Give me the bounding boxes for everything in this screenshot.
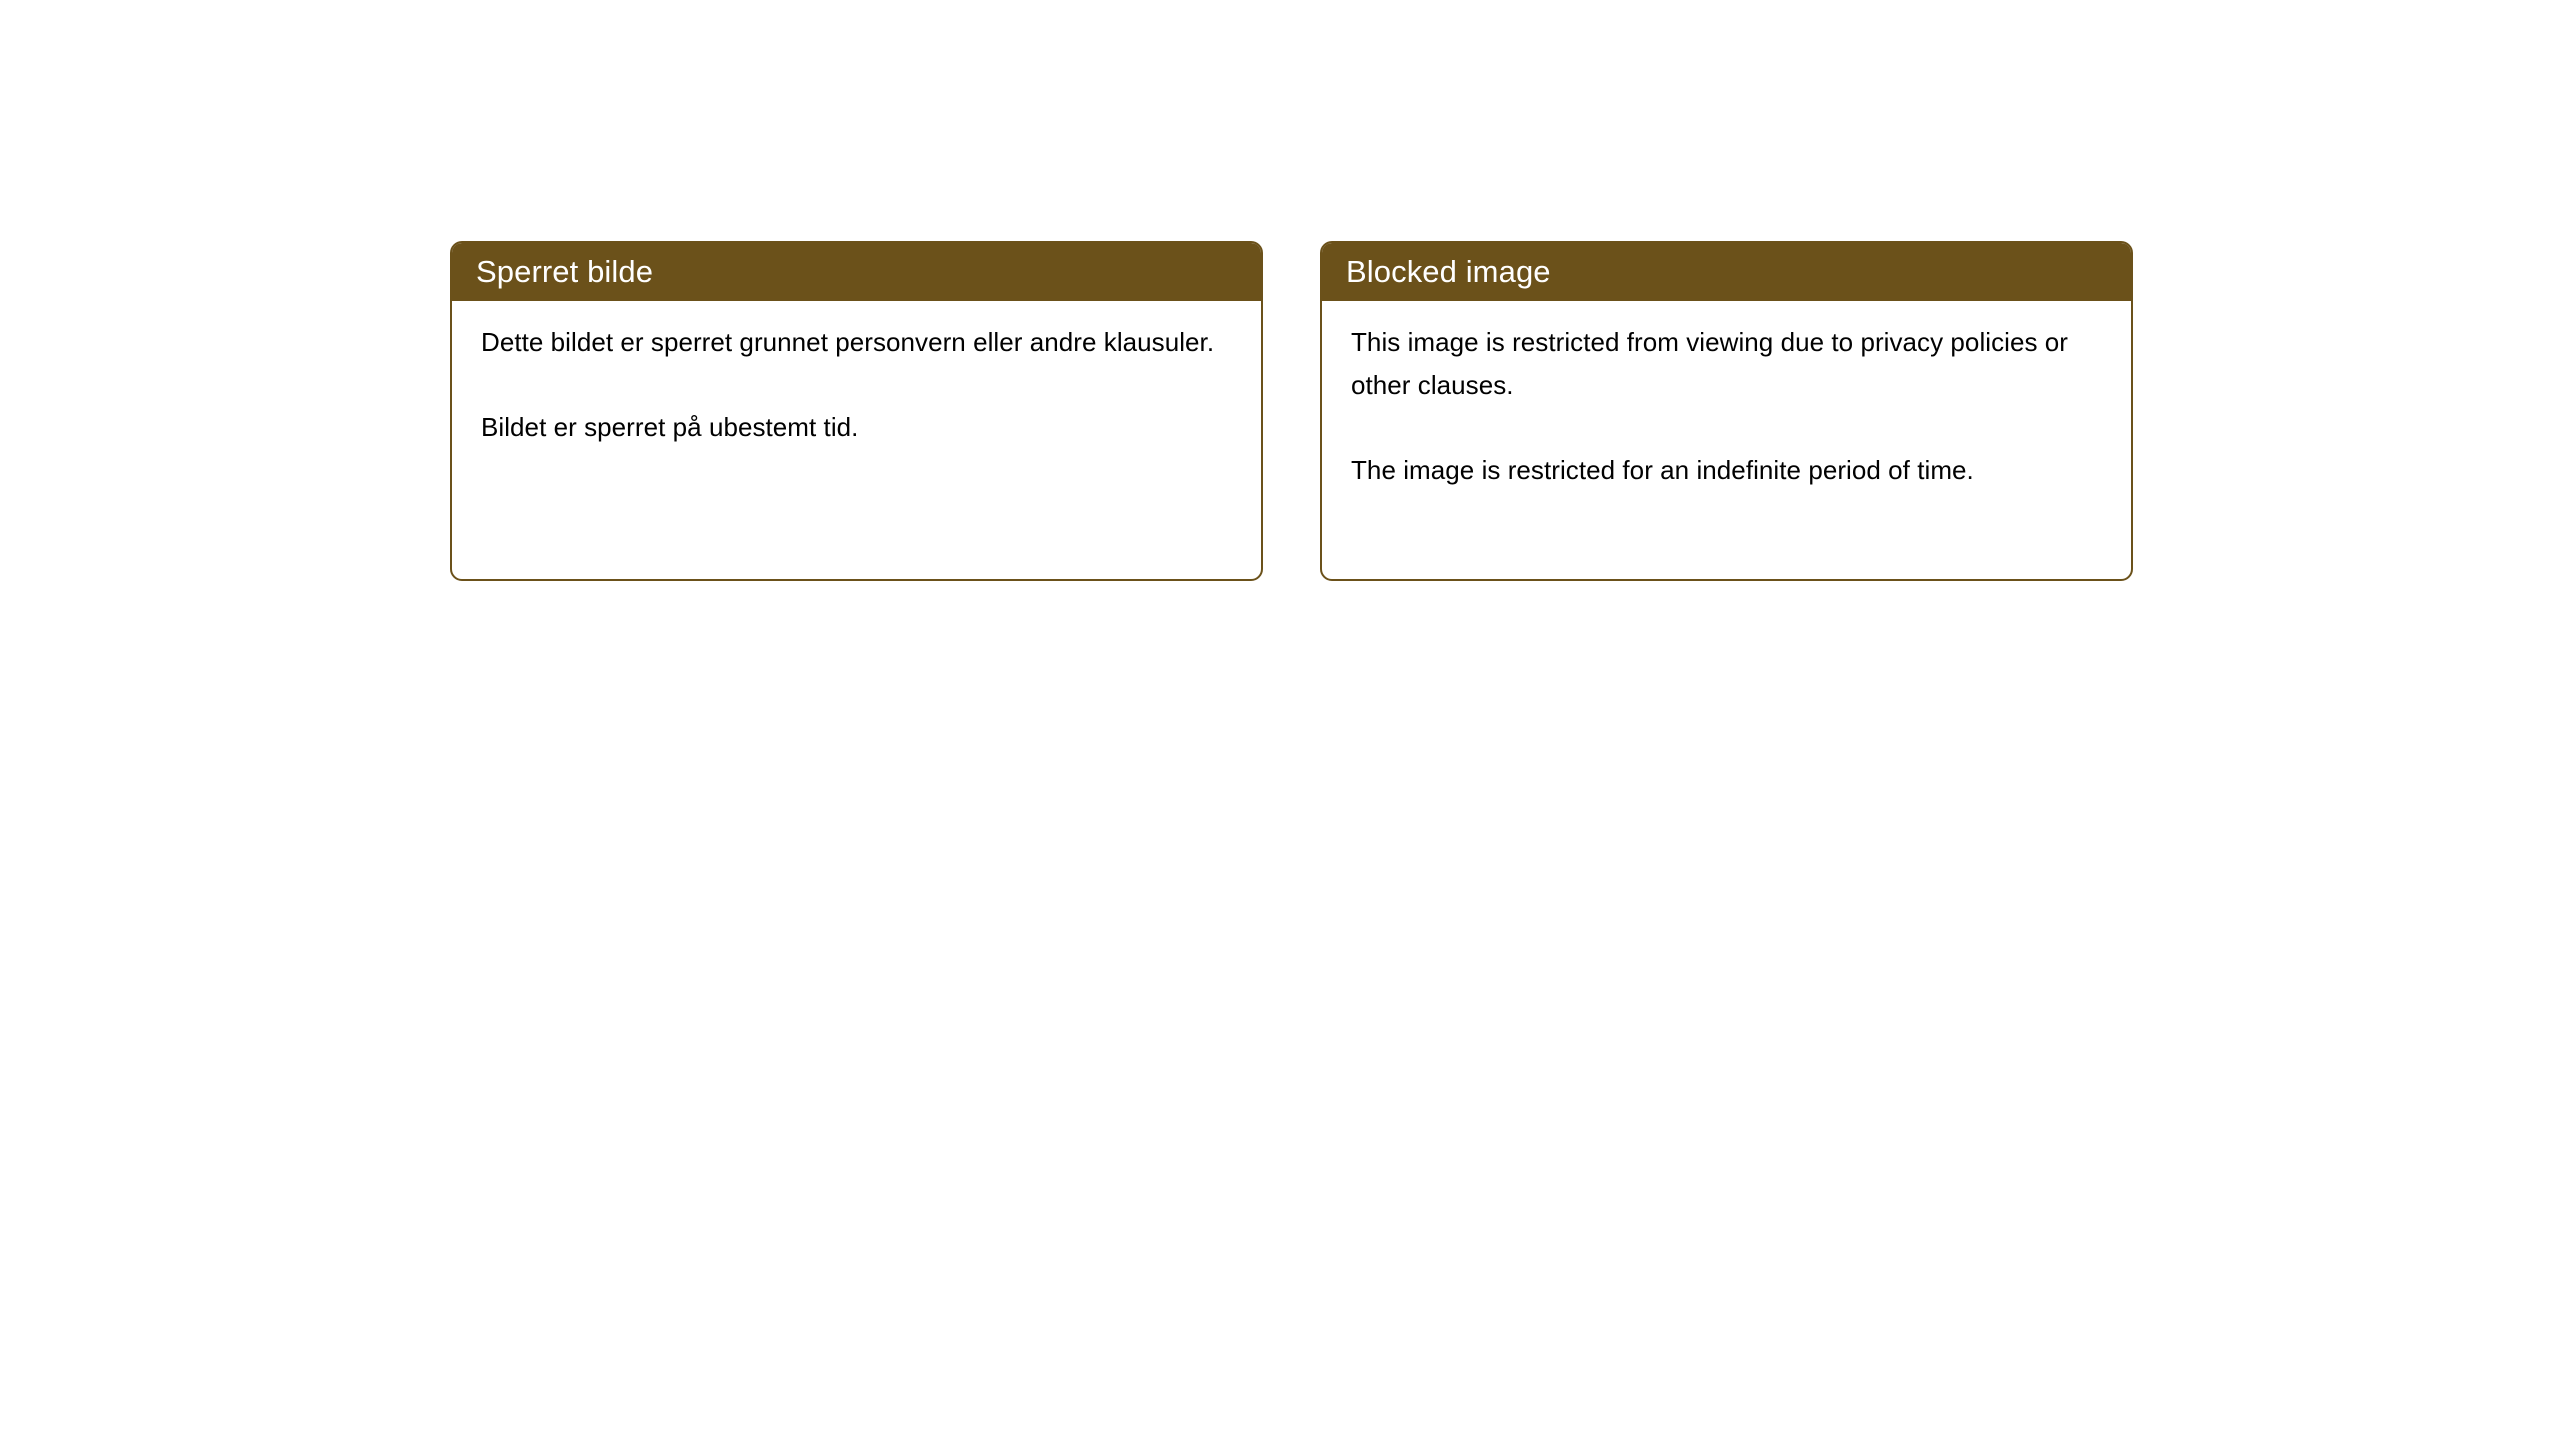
card-body-norwegian: Dette bildet er sperret grunnet personve…	[452, 301, 1261, 449]
card-header-english: Blocked image	[1320, 241, 2133, 301]
blocked-image-notice-card-norwegian: Sperret bilde Dette bildet er sperret gr…	[450, 241, 1263, 581]
card-paragraph-reason-norwegian: Dette bildet er sperret grunnet personve…	[481, 321, 1235, 364]
card-title-english: Blocked image	[1346, 256, 1551, 287]
blocked-image-notice-card-english: Blocked image This image is restricted f…	[1320, 241, 2133, 581]
card-paragraph-reason-english: This image is restricted from viewing du…	[1351, 321, 2105, 407]
card-paragraph-duration-norwegian: Bildet er sperret på ubestemt tid.	[481, 406, 1235, 449]
card-paragraph-duration-english: The image is restricted for an indefinit…	[1351, 449, 2105, 492]
card-body-english: This image is restricted from viewing du…	[1322, 301, 2131, 492]
card-title-norwegian: Sperret bilde	[476, 256, 653, 287]
card-header-norwegian: Sperret bilde	[450, 241, 1263, 301]
page-root: Sperret bilde Dette bildet er sperret gr…	[0, 0, 2560, 1440]
